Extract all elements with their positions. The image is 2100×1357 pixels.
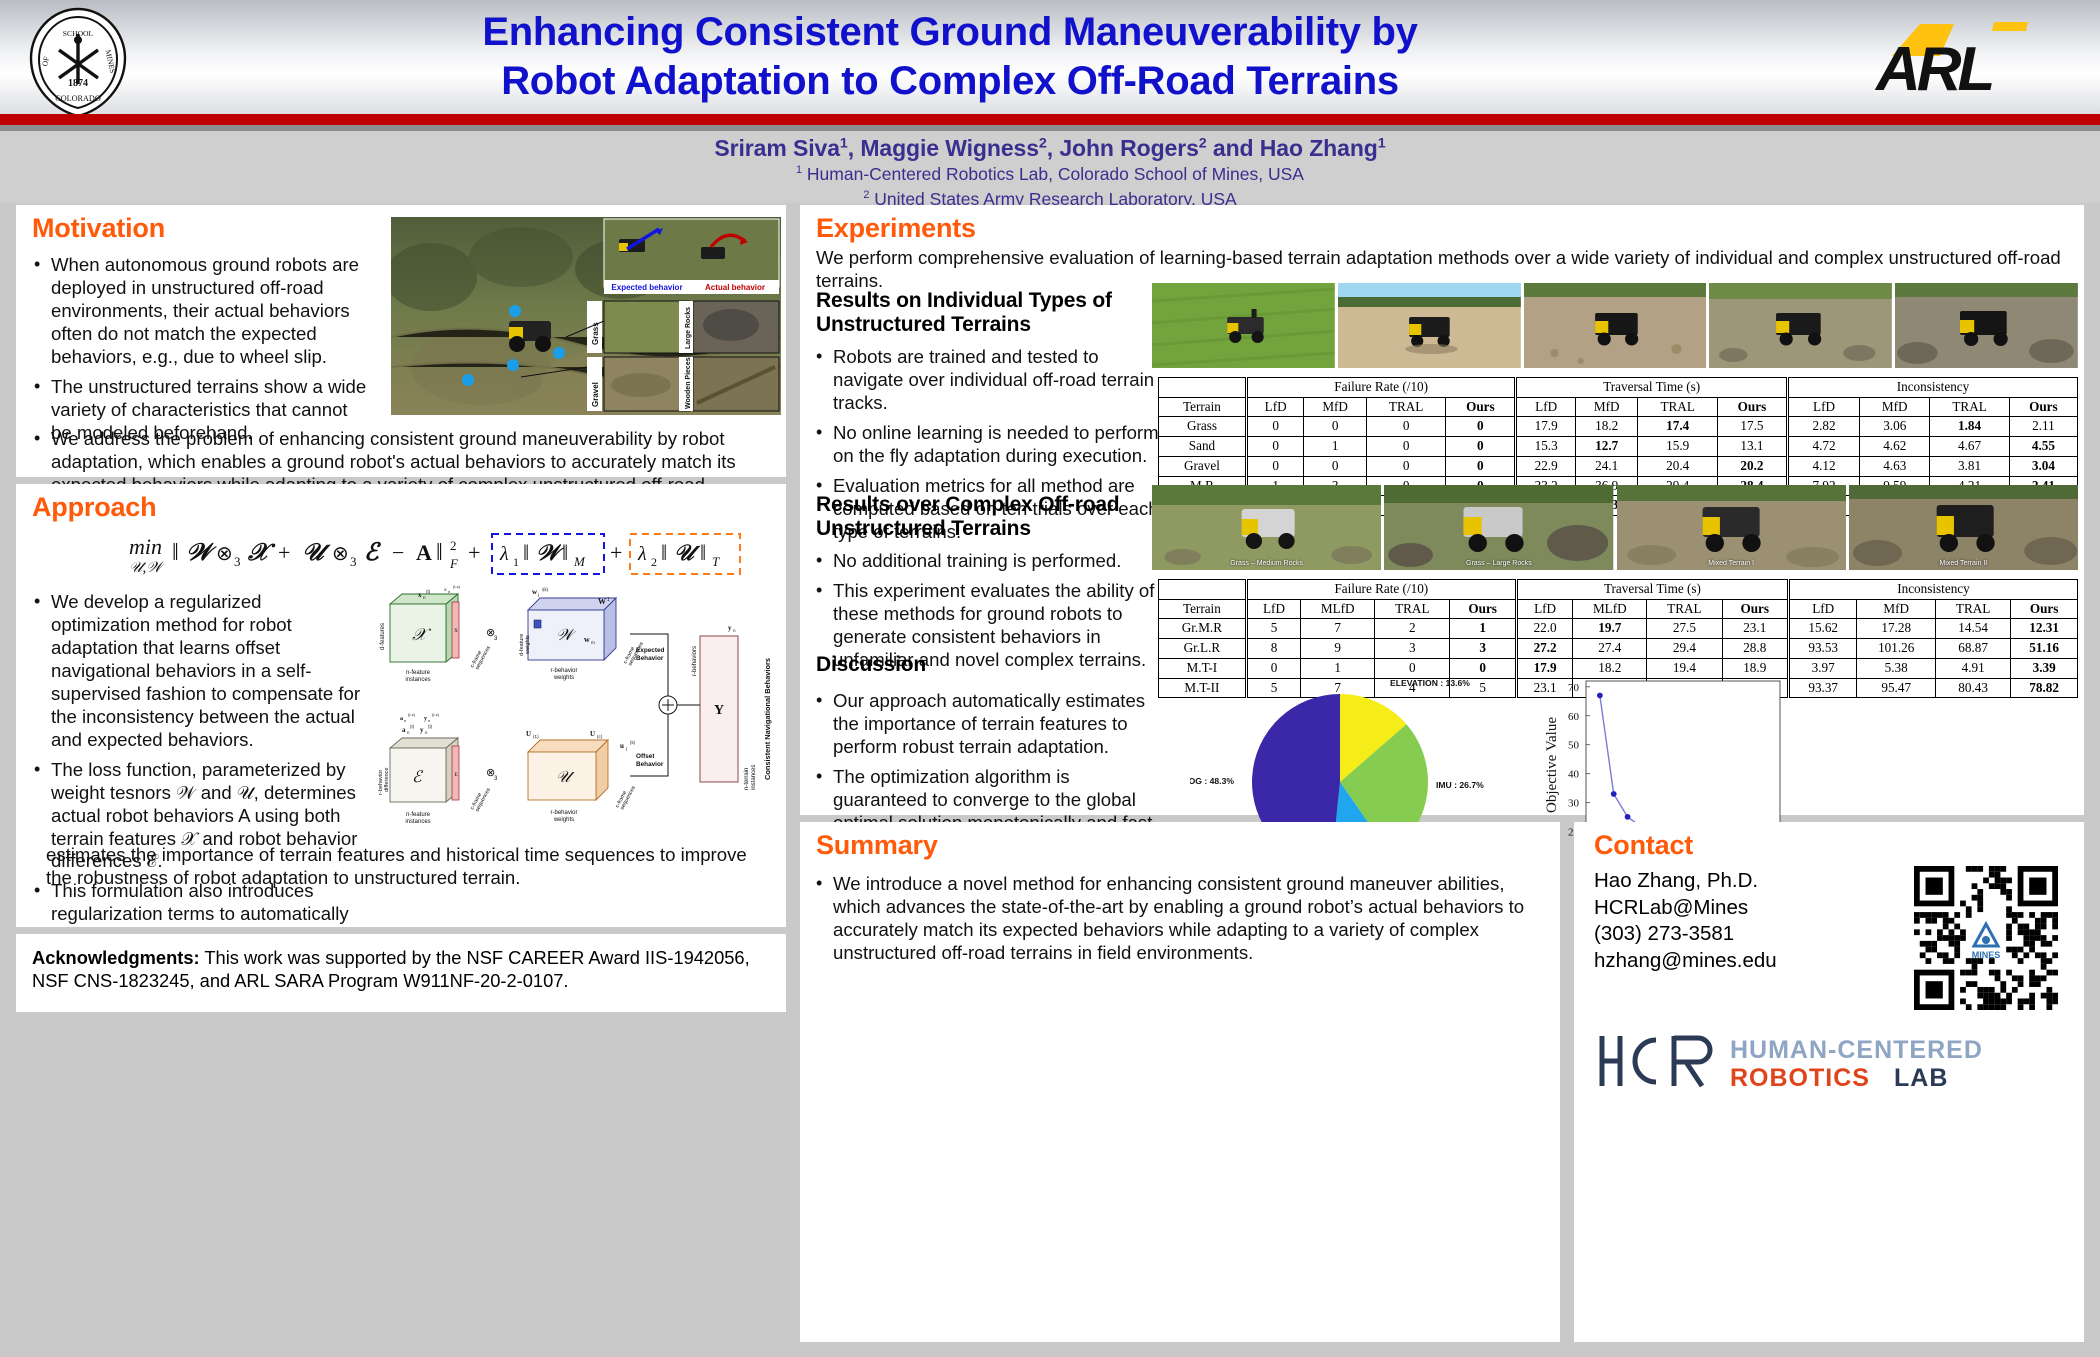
- table-cell: 8: [1246, 639, 1300, 659]
- table-cell: 101.26: [1857, 639, 1936, 659]
- svg-text:a: a: [402, 726, 406, 734]
- svg-text:ARL: ARL: [1874, 35, 1993, 102]
- t1-m-t-1: MfD: [1575, 397, 1638, 417]
- t1-m-f-2: TRAL: [1366, 397, 1445, 417]
- svg-text:n: n: [407, 730, 410, 735]
- svg-text:weights: weights: [553, 817, 574, 823]
- bullet-dot-icon: •: [816, 690, 833, 759]
- table-cell: 95.47: [1857, 678, 1936, 698]
- contact-lab: HCRLab@Mines: [1594, 895, 1849, 922]
- approach-heading: Approach: [32, 492, 156, 523]
- contact-phone: (303) 273-3581: [1594, 921, 1849, 948]
- table-method-header-row: Terrain LfD MfD TRAL Ours LfD MfD TRAL O…: [1159, 397, 2078, 417]
- t1-corner: Terrain: [1159, 397, 1247, 417]
- t1-corner-blank: [1159, 378, 1247, 398]
- svg-text:‖: ‖: [562, 540, 568, 565]
- table-cell: 4.62: [1860, 437, 1930, 457]
- table-cell: 13.1: [1717, 437, 1787, 457]
- t2-m-f-0: LfD: [1246, 599, 1300, 619]
- y-tick-label: 30: [1568, 798, 1580, 810]
- svg-text:ROBOTICS: ROBOTICS: [1730, 1064, 1870, 1092]
- svg-text:ℰ: ℰ: [364, 540, 382, 566]
- complex-terrain-photo-strip: Grass – Medium Rocks Grass – Large Rocks: [1152, 485, 2078, 570]
- svg-text:+: +: [610, 540, 622, 565]
- svg-text:+: +: [278, 540, 290, 565]
- t1-group-time: Traversal Time (s): [1516, 378, 1788, 398]
- svg-text:n-terrain: n-terrain: [744, 768, 750, 790]
- t2-corner-blank: [1159, 580, 1247, 600]
- experiments-bullets-discussion: • Our approach automatically estimates t…: [816, 683, 1166, 835]
- terrain-photo-large-rocks: [1895, 283, 2078, 368]
- y-axis-label: Objective Value: [1544, 717, 1560, 813]
- table-cell: 24.1: [1575, 456, 1638, 476]
- svg-text:w: w: [584, 635, 590, 644]
- summary-bullet-1: We introduce a novel method for enhancin…: [833, 873, 1542, 965]
- table-cell: 17.9: [1516, 417, 1576, 437]
- author-names: Sriram Siva1, Maggie Wigness2, John Roge…: [0, 131, 2100, 162]
- list-item: • Robots are trained and tested to navig…: [816, 346, 1166, 415]
- svg-text:1: 1: [607, 597, 610, 603]
- table-cell: 18.2: [1575, 417, 1638, 437]
- t1-group-incon: Inconsistency: [1787, 378, 2077, 398]
- table-cell: 20.4: [1638, 456, 1717, 476]
- table-cell: 4.12: [1787, 456, 1859, 476]
- table-cell: 3.04: [2009, 456, 2077, 476]
- table-cell: 3: [1450, 639, 1516, 659]
- t2-m-t-3: Ours: [1722, 599, 1788, 619]
- svg-text:1: 1: [513, 555, 519, 569]
- svg-text:(t): (t): [426, 589, 431, 594]
- svg-text:n: n: [425, 730, 428, 735]
- poster-title: Enhancing Consistent Ground Maneuverabil…: [200, 8, 1700, 106]
- table-group-header-row: Failure Rate (/10) Traversal Time (s) In…: [1159, 378, 2078, 398]
- svg-text:HUMAN-CENTERED: HUMAN-CENTERED: [1730, 1036, 1983, 1064]
- svg-text:n-feature: n-feature: [406, 812, 431, 818]
- svg-text:X: X: [454, 628, 458, 634]
- svg-text:n: n: [423, 595, 426, 600]
- svg-text:𝒰,𝒲: 𝒰,𝒲: [129, 560, 165, 576]
- table-cell: 51.16: [2011, 639, 2078, 659]
- pie-label-elevation: ELEVATION : 13.6%: [1390, 678, 1470, 688]
- svg-text:j: j: [537, 592, 539, 597]
- motivation-bullet-list: • When autonomous ground robots are depl…: [34, 247, 372, 445]
- table-cell: 2.82: [1787, 417, 1859, 437]
- table-cell: 14.54: [1936, 619, 2011, 639]
- table-cell: 1.84: [1930, 417, 2009, 437]
- bullet-dot-icon: •: [816, 873, 833, 965]
- t2-m-f-3: Ours: [1450, 599, 1516, 619]
- contact-heading: Contact: [1594, 830, 1693, 861]
- table-cell: 0: [1366, 456, 1445, 476]
- data-point: [1611, 791, 1617, 797]
- terrain-photo-sand: [1338, 283, 1521, 368]
- svg-text:n-feature: n-feature: [406, 670, 431, 676]
- poster-title-line-1: Enhancing Consistent Ground Maneuverabil…: [200, 8, 1700, 57]
- acknowledgments-label: Acknowledgments:: [32, 947, 200, 968]
- t2-m-f-2: TRAL: [1375, 599, 1450, 619]
- table-cell: 15.9: [1638, 437, 1717, 457]
- svg-text:(t): (t): [410, 724, 415, 729]
- svg-text:Offset: Offset: [636, 753, 655, 760]
- data-point: [1597, 693, 1603, 699]
- motivation-panel: Motivation • When autonomous ground robo…: [16, 205, 786, 477]
- svg-text:r-behaviors: r-behaviors: [692, 646, 698, 676]
- summary-heading: Summary: [816, 830, 938, 861]
- table-cell: 1: [1450, 619, 1516, 639]
- svg-text:n: n: [428, 718, 430, 723]
- svg-text:Y: Y: [714, 703, 724, 718]
- table-cell: 17.28: [1857, 619, 1936, 639]
- svg-text:weights: weights: [553, 675, 574, 681]
- svg-text:LAB: LAB: [1894, 1064, 1948, 1092]
- t1-m-t-0: LfD: [1516, 397, 1576, 417]
- svg-text:Actual behavior: Actual behavior: [705, 283, 765, 292]
- svg-text:x: x: [444, 587, 447, 593]
- table-cell: 0: [1366, 417, 1445, 437]
- svg-text:Expected: Expected: [636, 647, 665, 654]
- table-cell: 0: [1246, 437, 1303, 457]
- individual-terrain-photo-strip: [1152, 283, 2078, 368]
- table-cell: 78.82: [2011, 678, 2078, 698]
- svg-text:Grass: Grass: [591, 322, 600, 345]
- authors-band: Sriram Siva1, Maggie Wigness2, John Roge…: [0, 131, 2100, 203]
- bullet-dot-icon: •: [816, 346, 833, 415]
- svg-text:r-behavior: r-behavior: [550, 810, 577, 816]
- y-tick-label: 50: [1568, 740, 1580, 752]
- svg-text:m: m: [591, 640, 595, 645]
- approach-panel: Approach min 𝒰,𝒲 ‖ 𝒲 ⊗ 3 𝒳 + 𝒰 ⊗ 3 ℰ − A…: [16, 484, 786, 927]
- svg-text:u: u: [620, 742, 624, 750]
- table-cell: 3.97: [1788, 658, 1856, 678]
- table-method-header-row: Terrain LfD MLfD TRAL Ours LfD MLfD TRAL…: [1159, 599, 2078, 619]
- table-cell: 0: [1246, 417, 1303, 437]
- table-cell: 12.31: [2011, 619, 2078, 639]
- motivation-field-photo: Expected behavior Actual behavior Grass …: [391, 217, 781, 415]
- svg-text:𝒳: 𝒳: [247, 540, 276, 566]
- svg-text:‖: ‖: [172, 540, 179, 566]
- contact-name: Hao Zhang, Ph.D.: [1594, 868, 1849, 895]
- t2-m-i-1: MfD: [1857, 599, 1936, 619]
- svg-text:U: U: [526, 730, 531, 738]
- svg-text:𝒲: 𝒲: [186, 540, 217, 566]
- exp1-bullet-1: Robots are trained and tested to navigat…: [833, 346, 1166, 415]
- approach-architecture-diagram: 𝒳 x n (t) x n (t-c) X d-features n-featu…: [368, 580, 780, 842]
- poster-title-line-2: Robot Adaptation to Complex Off-Road Ter…: [200, 57, 1700, 106]
- table-cell: 27.5: [1647, 619, 1722, 639]
- t1-m-f-1: MfD: [1304, 397, 1367, 417]
- terrain-photo-grass: [1152, 283, 1335, 368]
- motivation-heading: Motivation: [32, 213, 165, 244]
- strip2-caption-3: Mixed Terrain I: [1617, 560, 1846, 567]
- table-cell: 2.11: [2009, 417, 2077, 437]
- svg-text:+: +: [468, 540, 480, 565]
- t1-m-i-3: Ours: [2009, 397, 2077, 417]
- svg-text:3: 3: [494, 776, 498, 782]
- pie-label-hog: HOG : 48.3%: [1190, 776, 1234, 786]
- t1-m-t-3: Ours: [1717, 397, 1787, 417]
- terrain-photo-medium-rocks: [1709, 283, 1892, 368]
- complex-photo-3: Mixed Terrain I: [1617, 485, 1846, 570]
- svg-text:λ: λ: [499, 543, 509, 565]
- experiments-heading: Experiments: [816, 213, 976, 244]
- experiments-subheading-complex: Results over Complex Off-road Unstructur…: [816, 493, 1166, 541]
- t1-m-i-1: MfD: [1860, 397, 1930, 417]
- strip2-caption-4: Mixed Terrain II: [1849, 560, 2078, 567]
- table-cell: 0: [1446, 437, 1516, 457]
- svg-text:Consistent Navigational Behavi: Consistent Navigational Behaviors: [763, 658, 772, 780]
- svg-text:y: y: [420, 726, 424, 734]
- bullet-dot-icon: •: [34, 254, 51, 369]
- table-cell: 1: [1304, 437, 1367, 457]
- t2-m-t-0: LfD: [1516, 599, 1572, 619]
- svg-text:−: −: [392, 540, 404, 565]
- svg-text:‖: ‖: [700, 540, 706, 565]
- list-item: • No online learning is needed to perfor…: [816, 422, 1166, 468]
- svg-text:3: 3: [350, 554, 357, 569]
- svg-text:U: U: [590, 730, 595, 738]
- svg-text:⊗: ⊗: [332, 543, 349, 565]
- svg-text:a: a: [400, 716, 403, 722]
- list-item: • We develop a regularized optimization …: [34, 591, 364, 752]
- acknowledgments-panel: Acknowledgments: This work was supported…: [16, 934, 786, 1012]
- table-cell: 4.67: [1930, 437, 2009, 457]
- complex-photo-1: Grass – Medium Rocks: [1152, 485, 1381, 570]
- table-cell: 22.0: [1516, 619, 1572, 639]
- svg-text:𝒰: 𝒰: [674, 540, 701, 565]
- contact-details: Hao Zhang, Ph.D. HCRLab@Mines (303) 273-…: [1594, 868, 1849, 975]
- svg-text:‖: ‖: [523, 540, 529, 565]
- t2-m-f-1: MLfD: [1301, 599, 1375, 619]
- y-tick-label: 60: [1568, 711, 1580, 723]
- acknowledgments-text: Acknowledgments: This work was supported…: [32, 946, 772, 992]
- table-row-terrain: Gr.M.R: [1159, 619, 1247, 639]
- header-red-rule: [0, 114, 2100, 125]
- table-cell: 3.06: [1860, 417, 1930, 437]
- table-row-terrain: Grass: [1159, 417, 1247, 437]
- svg-text:COLORADO: COLORADO: [55, 94, 101, 103]
- t2-m-i-0: LfD: [1788, 599, 1856, 619]
- approach-wide-text: estimates the importance of terrain feat…: [46, 844, 774, 890]
- svg-text:n: n: [733, 628, 736, 633]
- table-cell: 0: [1304, 456, 1367, 476]
- t2-m-i-3: Ours: [2011, 599, 2078, 619]
- svg-text:𝒰: 𝒰: [302, 540, 331, 566]
- table-row: Grass000017.918.217.417.52.823.061.842.1…: [1159, 417, 2078, 437]
- svg-text:j: j: [625, 746, 627, 751]
- experiments-subheading-individual: Results on Individual Types of Unstructu…: [816, 289, 1166, 337]
- exp1-bullet-2: No online learning is needed to perform …: [833, 422, 1166, 468]
- table-cell: 28.8: [1722, 639, 1788, 659]
- table-cell: 5: [1246, 619, 1300, 639]
- svg-text:instances: instances: [751, 765, 757, 790]
- complex-photo-4: Mixed Terrain II: [1849, 485, 2078, 570]
- svg-text:Expected behavior: Expected behavior: [611, 283, 682, 292]
- table-cell: 15.62: [1788, 619, 1856, 639]
- t2-group-incon: Inconsistency: [1788, 580, 2077, 600]
- table-cell: 3.39: [2011, 658, 2078, 678]
- t1-m-i-0: LfD: [1787, 397, 1859, 417]
- table-cell: 0: [1246, 456, 1303, 476]
- human-centered-robotics-lab-logo-icon: HUMAN-CENTERED ROBOTICS LAB: [1594, 1030, 2064, 1092]
- poster-header: SCHOOL OF MINES COLORADO 1874 Enhancing …: [0, 0, 2100, 120]
- list-item: • Our approach automatically estimates t…: [816, 690, 1166, 759]
- contact-email[interactable]: hzhang@mines.edu: [1594, 948, 1849, 975]
- svg-text:2: 2: [450, 538, 457, 553]
- table-cell: 27.4: [1573, 639, 1647, 659]
- bullet-dot-icon: •: [34, 591, 51, 752]
- svg-text:3: 3: [234, 554, 241, 569]
- t2-corner: Terrain: [1159, 599, 1247, 619]
- svg-text:⊗: ⊗: [216, 543, 233, 565]
- svg-text:Large Rocks: Large Rocks: [685, 307, 692, 349]
- table-row: Sand010015.312.715.913.14.724.624.674.55: [1159, 437, 2078, 457]
- svg-text:‖: ‖: [661, 540, 667, 565]
- table-cell: 68.87: [1936, 639, 2011, 659]
- list-item: • We introduce a novel method for enhanc…: [816, 873, 1542, 965]
- qr-code-icon[interactable]: MINES: [1914, 866, 2058, 1010]
- table-cell: 0: [1446, 417, 1516, 437]
- svg-text:‖: ‖: [436, 540, 443, 566]
- svg-text:(c): (c): [597, 734, 603, 739]
- complex-photo-2: Grass – Large Rocks: [1384, 485, 1613, 570]
- approach-objective-equation: min 𝒰,𝒲 ‖ 𝒲 ⊗ 3 𝒳 + 𝒰 ⊗ 3 ℰ − A ‖ 2 F + …: [44, 528, 760, 580]
- table-cell: 93.37: [1788, 678, 1856, 698]
- exp2-bullet-1: No additional training is performed.: [833, 550, 1166, 573]
- svg-text:1874: 1874: [68, 78, 88, 89]
- svg-text:min: min: [129, 534, 162, 559]
- svg-text:weights: weights: [525, 635, 531, 655]
- svg-text:A: A: [416, 540, 432, 565]
- svg-text:T: T: [712, 554, 720, 569]
- t1-m-t-2: TRAL: [1638, 397, 1717, 417]
- experiments-subheading-discussion: Discussion: [816, 653, 926, 677]
- strip2-caption-1: Grass – Medium Rocks: [1152, 560, 1381, 567]
- experiments-panel: Experiments We perform comprehensive eva…: [800, 205, 2084, 815]
- table-row: Gravel000022.924.120.420.24.124.633.813.…: [1159, 456, 2078, 476]
- table-cell: 29.4: [1647, 639, 1722, 659]
- summary-panel: Summary • We introduce a novel method fo…: [800, 822, 1560, 1342]
- table-cell: 4.55: [2009, 437, 2077, 457]
- table-cell: 17.5: [1717, 417, 1787, 437]
- t2-m-t-2: TRAL: [1647, 599, 1722, 619]
- table-cell: 12.7: [1575, 437, 1638, 457]
- table-row: Gr.L.R893327.227.429.428.893.53101.2668.…: [1159, 639, 2078, 659]
- svg-text:Behavior: Behavior: [636, 761, 664, 768]
- motivation-bullet-1: When autonomous ground robots are deploy…: [51, 254, 372, 369]
- t2-m-t-1: MLfD: [1573, 599, 1647, 619]
- contact-panel: Contact Hao Zhang, Ph.D. HCRLab@Mines (3…: [1574, 822, 2084, 1342]
- svg-text:(1): (1): [533, 734, 539, 739]
- list-item: • When autonomous ground robots are depl…: [34, 254, 372, 369]
- t2-group-time: Traversal Time (s): [1516, 580, 1788, 600]
- svg-text:(t-c): (t-c): [408, 712, 416, 717]
- svg-text:2: 2: [651, 555, 657, 569]
- strip2-caption-2: Grass – Large Rocks: [1384, 560, 1613, 567]
- t1-m-f-3: Ours: [1446, 397, 1516, 417]
- table-row-terrain: Gravel: [1159, 456, 1247, 476]
- approach-bullet-1: We develop a regularized optimization me…: [51, 591, 364, 752]
- y-tick-label: 40: [1568, 769, 1580, 781]
- table-cell: 93.53: [1788, 639, 1856, 659]
- data-point: [1625, 814, 1631, 820]
- t1-m-f-0: LfD: [1246, 397, 1303, 417]
- svg-text:y: y: [424, 716, 427, 722]
- y-tick-label: 70: [1568, 682, 1580, 694]
- table-cell: 22.9: [1516, 456, 1576, 476]
- affiliation-1: 1 Human-Centered Robotics Lab, Colorado …: [0, 162, 2100, 187]
- list-item: • No additional training is performed.: [816, 550, 1166, 573]
- table-row-terrain: Sand: [1159, 437, 1247, 457]
- t1-m-i-2: TRAL: [1930, 397, 2009, 417]
- table-cell: 9: [1301, 639, 1375, 659]
- table-cell: 4.91: [1936, 658, 2011, 678]
- svg-text:Wooden Pieces: Wooden Pieces: [685, 357, 692, 409]
- table-cell: 0: [1366, 437, 1445, 457]
- svg-text:λ: λ: [637, 543, 647, 565]
- terrain-photo-gravel: [1524, 283, 1707, 368]
- svg-text:W: W: [598, 597, 606, 606]
- table-cell: 23.1: [1722, 619, 1788, 639]
- bullet-dot-icon: •: [816, 550, 833, 573]
- table-cell: 0: [1446, 456, 1516, 476]
- table-cell: 7: [1301, 619, 1375, 639]
- svg-text:Behavior: Behavior: [636, 655, 664, 662]
- table-row: Gr.M.R572122.019.727.523.115.6217.2814.5…: [1159, 619, 2078, 639]
- svg-text:r-behavior: r-behavior: [550, 668, 577, 674]
- svg-text:3: 3: [494, 636, 498, 642]
- table-cell: 5.38: [1857, 658, 1936, 678]
- table-cell: 17.4: [1638, 417, 1717, 437]
- table-cell: 2: [1375, 619, 1450, 639]
- svg-text:F: F: [449, 556, 459, 571]
- table-cell: 19.7: [1573, 619, 1647, 639]
- table-group-header-row: Failure Rate (/10) Traversal Time (s) In…: [1159, 580, 2078, 600]
- svg-text:d-features: d-features: [380, 623, 386, 650]
- svg-text:y: y: [728, 624, 732, 632]
- svg-text:instances: instances: [405, 677, 430, 683]
- summary-bullet-list: • We introduce a novel method for enhanc…: [816, 866, 1542, 965]
- svg-text:instances: instances: [405, 819, 430, 825]
- svg-text:Gravel: Gravel: [591, 382, 600, 407]
- table-cell: 15.3: [1516, 437, 1576, 457]
- t2-group-failure: Failure Rate (/10): [1246, 580, 1516, 600]
- svg-text:MINES: MINES: [1972, 950, 2001, 960]
- arl-logo-icon: ARL: [1862, 14, 2052, 102]
- svg-text:𝒲: 𝒲: [536, 540, 565, 565]
- exp3-bullet-1: Our approach automatically estimates the…: [833, 690, 1166, 759]
- svg-text:M: M: [573, 554, 586, 569]
- bullet-dot-icon: •: [816, 422, 833, 468]
- table-cell: 80.43: [1936, 678, 2011, 698]
- table-cell: 3.81: [1930, 456, 2009, 476]
- svg-text:difference: difference: [384, 768, 390, 792]
- table-row-terrain: Gr.L.R: [1159, 639, 1247, 659]
- svg-text:(t-c): (t-c): [453, 584, 461, 589]
- svg-text:n: n: [448, 589, 450, 594]
- svg-text:i(k): i(k): [542, 587, 549, 592]
- svg-text:x: x: [418, 591, 422, 599]
- table-cell: 0: [1304, 417, 1367, 437]
- svg-text:(k): (k): [630, 740, 636, 745]
- svg-text:(t-c): (t-c): [432, 712, 440, 717]
- table-cell: 20.2: [1717, 456, 1787, 476]
- table-cell: 3: [1375, 639, 1450, 659]
- t2-m-i-2: TRAL: [1936, 599, 2011, 619]
- pie-label-imu: IMU : 26.7%: [1436, 780, 1484, 790]
- table-cell: 4.72: [1787, 437, 1859, 457]
- table-cell: 27.2: [1516, 639, 1572, 659]
- t1-group-failure: Failure Rate (/10): [1246, 378, 1515, 398]
